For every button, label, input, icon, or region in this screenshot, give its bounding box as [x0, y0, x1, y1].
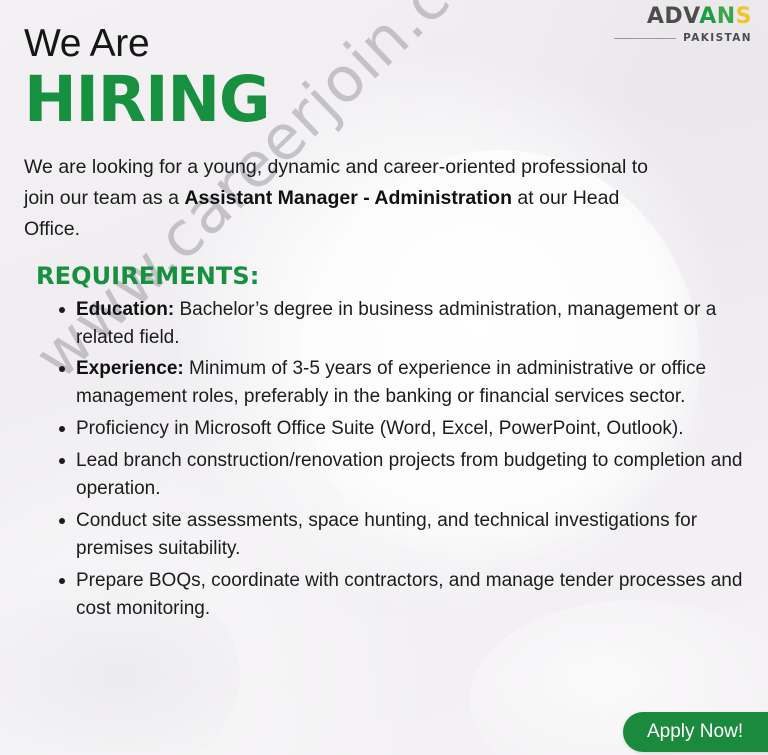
list-item: Conduct site assessments, space hunting,… — [58, 507, 744, 563]
list-item-text: Proficiency in Microsoft Office Suite (W… — [76, 418, 684, 439]
poster-content: We Are HIRING We are looking for a young… — [0, 0, 768, 623]
apply-now-button[interactable]: Apply Now! — [623, 712, 768, 752]
list-item: Prepare BOQs, coordinate with contractor… — [58, 567, 744, 623]
headline-hiring: HIRING — [24, 68, 744, 132]
list-item: Proficiency in Microsoft Office Suite (W… — [58, 415, 744, 443]
requirements-heading: REQUIREMENTS: — [36, 262, 744, 290]
intro-job-title: Assistant Manager - Administration — [184, 187, 512, 209]
list-item-label: Education: — [76, 299, 174, 320]
intro-paragraph: We are looking for a young, dynamic and … — [24, 152, 672, 244]
list-item-text: Prepare BOQs, coordinate with contractor… — [76, 570, 742, 619]
headline-we-are: We Are — [24, 0, 744, 63]
requirements-list: Education: Bachelor’s degree in business… — [24, 296, 744, 623]
list-item: Experience: Minimum of 3-5 years of expe… — [58, 355, 744, 411]
list-item-label: Experience: — [76, 358, 184, 379]
list-item: Education: Bachelor’s degree in business… — [58, 296, 744, 352]
list-item-text: Conduct site assessments, space hunting,… — [76, 510, 697, 559]
job-posting-poster: www.careerjoin.com ADVANS PAKISTAN We Ar… — [0, 0, 768, 755]
list-item: Lead branch construction/renovation proj… — [58, 447, 744, 503]
list-item-text: Lead branch construction/renovation proj… — [76, 450, 742, 499]
